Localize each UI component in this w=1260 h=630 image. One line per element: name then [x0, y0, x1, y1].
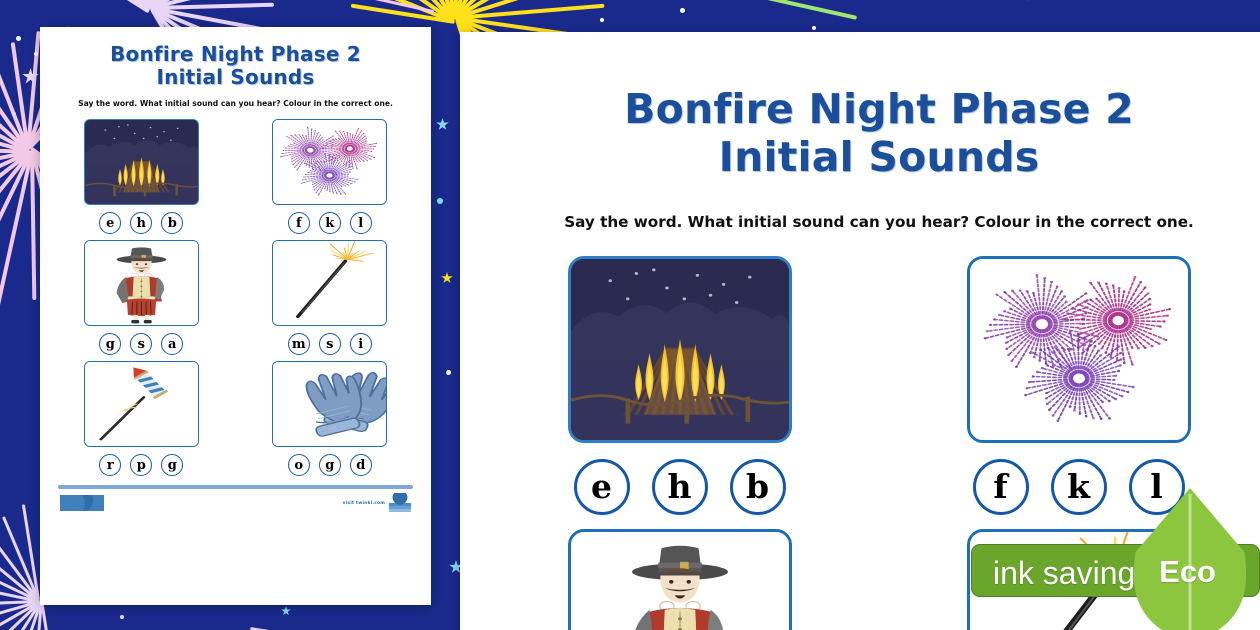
letter-options-1: ehb — [99, 212, 183, 234]
question-6: ogd — [245, 361, 416, 476]
letter-option-s[interactable]: s — [130, 333, 152, 355]
question-4: msi — [245, 240, 416, 355]
footer-right-group: visit twinkl.com — [343, 493, 411, 513]
letter-option-m[interactable]: m — [288, 333, 310, 355]
question-2: fkl — [903, 256, 1254, 515]
letter-option-e[interactable]: e — [574, 459, 630, 515]
letter-option-k[interactable]: k — [319, 212, 341, 234]
spark-dot-icon — [600, 18, 604, 22]
spark-dot-icon — [34, 52, 38, 56]
eco-badge-word: Eco — [1159, 554, 1216, 590]
star-icon — [281, 606, 291, 616]
footer-text: visit twinkl.com — [343, 501, 385, 506]
letter-options-6: ogd — [288, 454, 372, 476]
question-grid-small: ehbfklgsamsirpgogd — [56, 119, 415, 476]
letter-option-e[interactable]: e — [99, 212, 121, 234]
letter-options-1: ehb — [574, 459, 786, 515]
letter-option-g[interactable]: g — [99, 333, 121, 355]
letter-option-r[interactable]: r — [99, 454, 121, 476]
spark-dot-icon — [437, 198, 443, 204]
star-icon — [22, 68, 39, 85]
sparkler-image — [272, 240, 387, 326]
letter-options-5: rpg — [99, 454, 183, 476]
letter-options-2: fkl — [288, 212, 372, 234]
title-line-2: Initial Sounds — [56, 66, 415, 89]
letter-option-h[interactable]: h — [652, 459, 708, 515]
star-icon — [436, 118, 449, 131]
question-3: gsa — [504, 529, 855, 630]
letter-option-p[interactable]: p — [130, 454, 152, 476]
screenshot-stage: Bonfire Night Phase 2 Initial Sounds Say… — [0, 0, 1260, 630]
twinkl-mark-icon — [389, 493, 411, 513]
page-title-small: Bonfire Night Phase 2 Initial Sounds — [56, 43, 415, 89]
letter-option-f[interactable]: f — [288, 212, 310, 234]
letter-option-b[interactable]: b — [161, 212, 183, 234]
fireworks-image — [272, 119, 387, 205]
spark-dot-icon — [812, 26, 816, 30]
letter-options-4: msi — [288, 333, 372, 355]
fireworks-image — [967, 256, 1191, 443]
guy-fawkes-image — [84, 240, 199, 326]
spark-dot-icon — [16, 36, 21, 41]
question-3: gsa — [56, 240, 227, 355]
letter-option-i[interactable]: i — [350, 333, 372, 355]
page-footer: visit twinkl.com — [56, 489, 415, 513]
letter-options-2: fkl — [973, 459, 1185, 515]
worksheet-thumbnail-page[interactable]: Bonfire Night Phase 2 Initial Sounds Say… — [40, 27, 431, 605]
letter-option-b[interactable]: b — [730, 459, 786, 515]
question-2: fkl — [245, 119, 416, 234]
spark-dot-icon — [446, 370, 451, 375]
spark-dot-icon — [12, 112, 16, 116]
letter-option-s[interactable]: s — [319, 333, 341, 355]
question-1: ehb — [56, 119, 227, 234]
star-icon — [441, 272, 453, 284]
twinkl-cloud-logo — [60, 495, 104, 511]
letter-option-d[interactable]: d — [350, 454, 372, 476]
spark-dot-icon — [680, 8, 685, 13]
page-title-large: Bonfire Night Phase 2 Initial Sounds — [504, 86, 1254, 182]
spark-dot-icon — [120, 615, 124, 619]
question-5: rpg — [56, 361, 227, 476]
gloves-image — [272, 361, 387, 447]
letter-option-l[interactable]: l — [350, 212, 372, 234]
letter-option-a[interactable]: a — [161, 333, 183, 355]
eco-badge-label: ink saving — [993, 555, 1135, 592]
letter-option-f[interactable]: f — [973, 459, 1029, 515]
title-line-2-large: Initial Sounds — [504, 134, 1254, 182]
instruction-text-small: Say the word. What initial sound can you… — [56, 99, 415, 108]
guy-fawkes-image — [568, 529, 792, 630]
letter-option-g[interactable]: g — [161, 454, 183, 476]
bonfire-image — [568, 256, 792, 443]
title-line-1: Bonfire Night Phase 2 — [56, 43, 415, 66]
rocket-image — [84, 361, 199, 447]
question-1: ehb — [504, 256, 855, 515]
letter-option-h[interactable]: h — [130, 212, 152, 234]
letter-option-g[interactable]: g — [319, 454, 341, 476]
ink-saving-eco-badge: ink saving Eco — [971, 526, 1260, 600]
letter-options-3: gsa — [99, 333, 183, 355]
letter-option-o[interactable]: o — [288, 454, 310, 476]
title-line-1-large: Bonfire Night Phase 2 — [504, 86, 1254, 134]
instruction-text-large: Say the word. What initial sound can you… — [504, 213, 1254, 231]
letter-option-k[interactable]: k — [1051, 459, 1107, 515]
bonfire-image — [84, 119, 199, 205]
